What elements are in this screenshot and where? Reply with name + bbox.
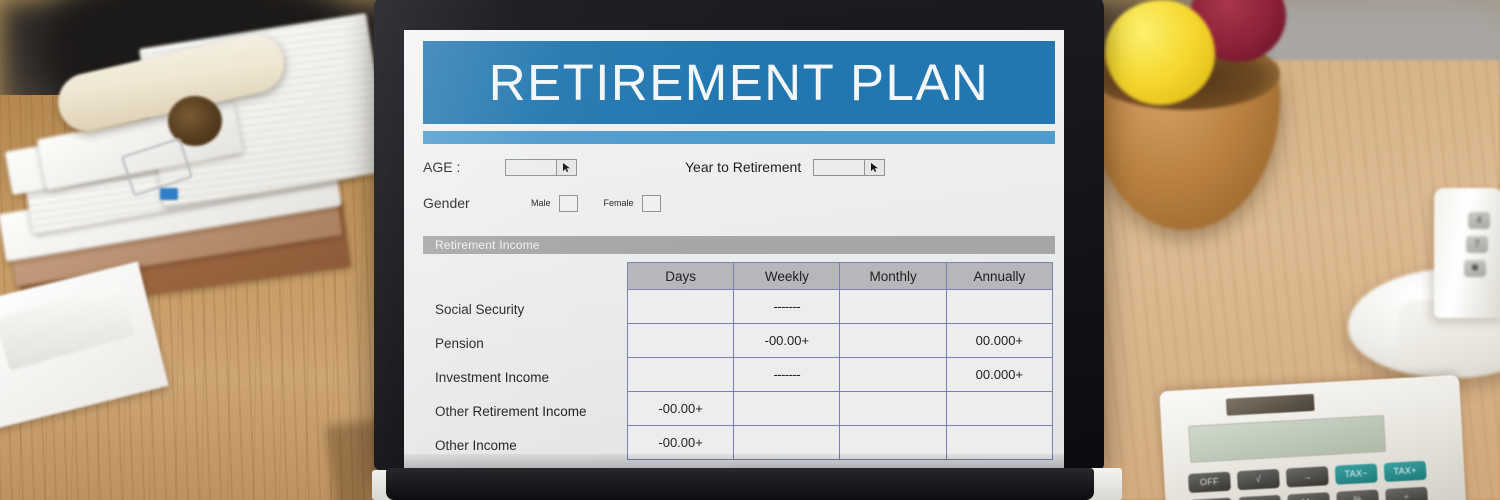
row-label-pension: Pension — [427, 326, 627, 360]
cell-pension-weekly[interactable]: -00.00+ — [734, 324, 840, 358]
table-row-labels: Social Security Pension Investment Incom… — [427, 292, 627, 468]
calculator-key-m-minus[interactable]: M− — [1238, 495, 1281, 500]
cell-investment-income-days[interactable] — [628, 358, 734, 392]
calculator-key-off[interactable]: OFF — [1188, 472, 1231, 493]
calculator-key-tax-plus[interactable]: TAX+ — [1384, 461, 1427, 482]
table-row: -00.00+ — [628, 392, 1053, 426]
cell-social-security-monthly[interactable] — [840, 290, 946, 324]
calculator-key-tax-minus[interactable]: TAX− — [1335, 463, 1378, 484]
cordless-phone-handset: 4 7 ✱ — [1434, 188, 1500, 318]
binder-clip-blue — [160, 188, 178, 200]
female-label: Female — [604, 198, 634, 208]
row-label-social-security: Social Security — [427, 292, 627, 326]
table-row: ------- — [628, 290, 1053, 324]
male-label: Male — [531, 198, 551, 208]
table-header-row: Days Weekly Monthly Annually — [628, 263, 1053, 290]
table-row: -00.00+ 00.000+ — [628, 324, 1053, 358]
cell-other-retirement-income-weekly[interactable] — [734, 392, 840, 426]
cell-social-security-annually[interactable] — [946, 290, 1052, 324]
female-checkbox[interactable] — [642, 195, 661, 212]
form-area: AGE : Year to Retirement — [423, 152, 1055, 218]
age-input[interactable] — [506, 160, 556, 175]
laptop-base — [386, 468, 1094, 500]
calculator-key-percent[interactable]: % — [1336, 489, 1379, 500]
calculator: OFF √ → TAX− TAX+ MRC M− M+ % ÷ — [1159, 375, 1466, 500]
row-label-other-retirement-income: Other Retirement Income — [427, 394, 627, 428]
column-header-days: Days — [628, 263, 734, 290]
cell-investment-income-annually[interactable]: 00.000+ — [946, 358, 1052, 392]
page-title: RETIREMENT PLAN — [489, 53, 989, 112]
year-to-retirement-dropdown[interactable] — [813, 159, 885, 176]
calculator-solar-panel — [1226, 394, 1315, 416]
male-checkbox[interactable] — [559, 195, 578, 212]
cell-investment-income-weekly[interactable]: ------- — [734, 358, 840, 392]
calculator-key-m-plus[interactable]: M+ — [1287, 492, 1330, 500]
column-header-monthly: Monthly — [840, 263, 946, 290]
app-title-bar: RETIREMENT PLAN — [423, 41, 1055, 124]
column-header-annually: Annually — [946, 263, 1052, 290]
phone-key-4: 4 — [1468, 212, 1490, 229]
calculator-display — [1188, 415, 1386, 463]
cell-social-security-days[interactable] — [628, 290, 734, 324]
age-dropdown[interactable] — [505, 159, 577, 176]
age-label: AGE : — [423, 159, 505, 175]
cell-pension-monthly[interactable] — [840, 324, 946, 358]
retirement-income-section-label: Retirement Income — [423, 238, 540, 252]
gender-label: Gender — [423, 195, 505, 211]
cell-other-retirement-income-days[interactable]: -00.00+ — [628, 392, 734, 426]
year-to-retirement-label: Year to Retirement — [685, 159, 801, 175]
table-grid: Days Weekly Monthly Annually ------- — [627, 262, 1053, 460]
age-dropdown-arrow-icon[interactable] — [556, 160, 576, 175]
cell-other-retirement-income-monthly[interactable] — [840, 392, 946, 426]
calculator-key-backspace[interactable]: → — [1286, 466, 1329, 487]
table-row: ------- 00.000+ — [628, 358, 1053, 392]
phone-key-7: 7 — [1466, 236, 1488, 253]
laptop-screen: RETIREMENT PLAN AGE : Year to Retirement — [404, 30, 1064, 468]
cell-social-security-weekly[interactable]: ------- — [734, 290, 840, 324]
lemon — [1105, 0, 1215, 105]
title-accent-bar — [423, 131, 1055, 144]
column-header-weekly: Weekly — [734, 263, 840, 290]
retirement-income-section-bar: Retirement Income — [423, 236, 1055, 254]
calculator-key-divide[interactable]: ÷ — [1385, 487, 1428, 500]
cell-investment-income-monthly[interactable] — [840, 358, 946, 392]
cell-pension-annually[interactable]: 00.000+ — [946, 324, 1052, 358]
gender-row: Gender Male Female — [423, 188, 1055, 218]
phone-key-star: ✱ — [1464, 260, 1486, 277]
screen-bottom-shadow — [404, 454, 1064, 468]
row-label-investment-income: Investment Income — [427, 360, 627, 394]
calculator-key-sqrt[interactable]: √ — [1237, 469, 1280, 490]
year-to-retirement-dropdown-arrow-icon[interactable] — [864, 160, 884, 175]
desk-scene: 4 7 ✱ OFF √ → TAX− TAX+ MRC M− M+ % ÷ RE… — [0, 0, 1500, 500]
cell-other-retirement-income-annually[interactable] — [946, 392, 1052, 426]
cell-pension-days[interactable] — [628, 324, 734, 358]
age-row: AGE : Year to Retirement — [423, 152, 1055, 182]
year-to-retirement-input[interactable] — [814, 160, 864, 175]
